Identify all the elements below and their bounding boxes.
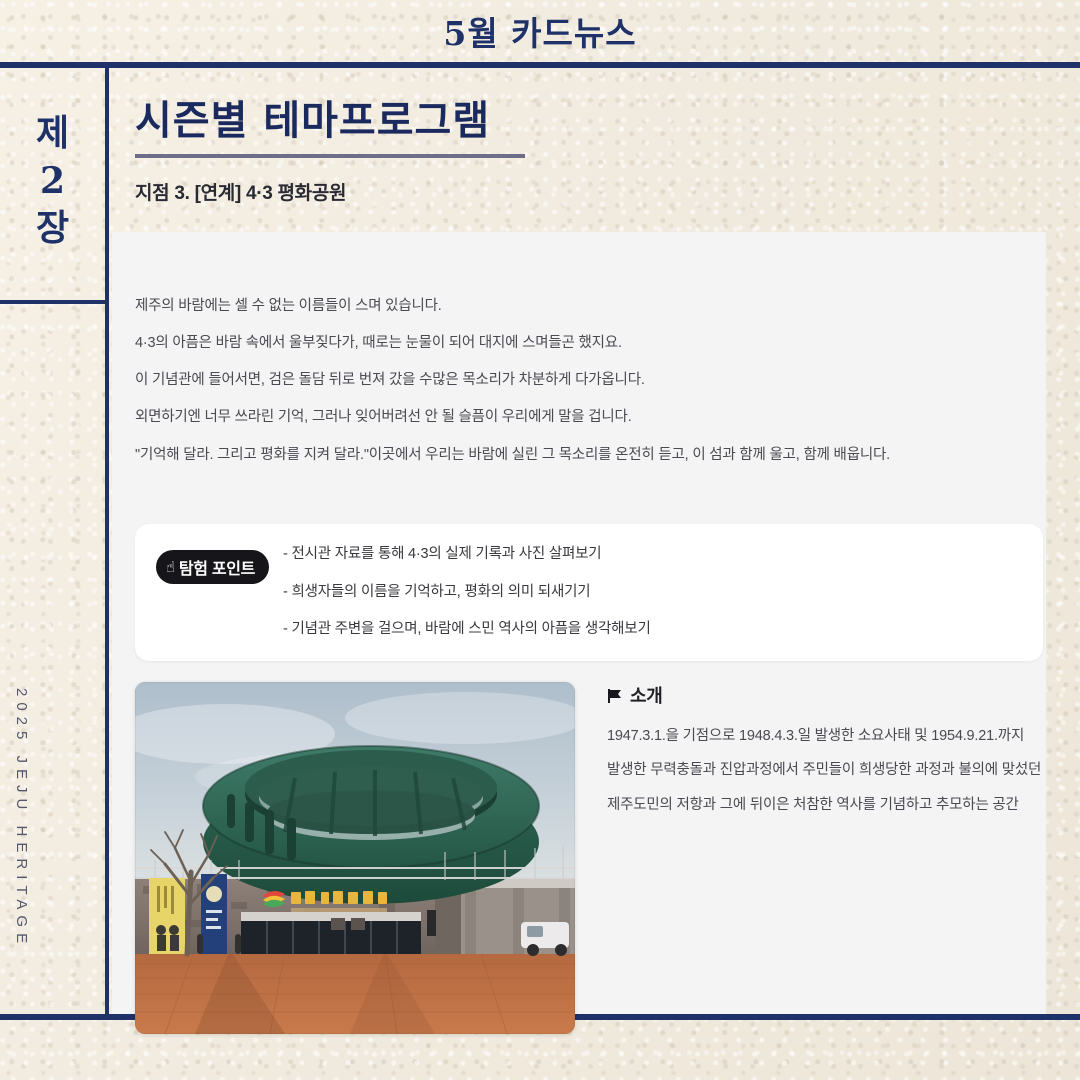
left-rail: 제 2 장 2025 JEJU HERITAGE (0, 68, 105, 1014)
lede-block: 제주의 바람에는 셀 수 없는 이름들이 스며 있습니다. 4·3의 아픔은 바… (112, 232, 1046, 464)
memorial-hall-photo (135, 682, 575, 1034)
card-news-page: 5월 카드뉴스 제 2 장 2025 JEJU HERITAGE 시즌별 테마프… (0, 0, 1080, 1080)
flag-icon (607, 688, 623, 704)
chapter-line-2: 2 (0, 158, 105, 206)
content-column: 시즌별 테마프로그램 지점 3. [연계] 4·3 평화공원 제주의 바람에는 … (112, 68, 1080, 1014)
chapter-line-3: 장 (0, 205, 105, 253)
lede-line: "기억해 달라. 그리고 평화를 지켜 달라."이곳에서 우리는 바람에 실린 … (135, 446, 1026, 464)
page-title: 시즌별 테마프로그램 (135, 99, 1080, 143)
lede-line: 외면하기엔 너무 쓰라린 기억, 그러나 잊어버려선 안 될 슬픔이 우리에게 … (135, 408, 1026, 426)
chapter-line-1: 제 (0, 110, 105, 158)
lede-line: 제주의 바람에는 셀 수 없는 이름들이 스며 있습니다. (135, 297, 1026, 315)
intro-line: 발생한 무력충돌과 진압과정에서 주민들이 희생당한 과정과 불의에 맞섰던 (607, 762, 1037, 779)
page-header: 5월 카드뉴스 (0, 0, 1080, 62)
intro-block: 소개 1947.3.1.을 기점으로 1948.4.3.일 발생한 소요사태 및… (607, 682, 1037, 831)
pointing-hand-icon: ☝ (166, 560, 175, 575)
list-item: - 기념관 주변을 걸으며, 바람에 스민 역사의 아픔을 생각해보기 (283, 621, 651, 638)
list-item: - 희생자들의 이름을 기억하고, 평화의 의미 되새기기 (283, 584, 651, 601)
lede-line: 4·3의 아픔은 바람 속에서 울부짖다가, 때로는 눈물이 되어 대지에 스며… (135, 334, 1026, 352)
chapter-marker: 제 2 장 (0, 110, 105, 253)
rail-brand-label: 2025 JEJU HERITAGE (13, 688, 30, 949)
title-underline (135, 154, 525, 158)
section-subtitle: 지점 3. [연계] 4·3 평화공원 (135, 178, 1080, 205)
intro-line: 1947.3.1.을 기점으로 1948.4.3.일 발생한 소요사태 및 19… (607, 728, 1037, 745)
body-panel: 제주의 바람에는 셀 수 없는 이름들이 스며 있습니다. 4·3의 아픔은 바… (112, 232, 1046, 1014)
intro-heading: 소개 (607, 682, 1037, 708)
explore-point-badge: ☝ 탐험 포인트 (156, 550, 269, 584)
vertical-navy-divider (105, 62, 109, 1019)
intro-line: 제주도민의 저항과 그에 뒤이은 처참한 역사를 기념하고 추모하는 공간 (607, 797, 1037, 814)
header-title: 5월 카드뉴스 (443, 7, 636, 55)
photo-illustration (135, 682, 575, 1034)
lede-line: 이 기념관에 들어서면, 검은 돌담 뒤로 번져 갔을 수많은 목소리가 차분하… (135, 371, 1026, 389)
list-item: - 전시관 자료를 통해 4·3의 실제 기록과 사진 살펴보기 (283, 546, 651, 563)
explore-point-card: ☝ 탐험 포인트 - 전시관 자료를 통해 4·3의 실제 기록과 사진 살펴보… (135, 524, 1043, 661)
explore-point-badge-label: 탐험 포인트 (179, 555, 255, 579)
explore-point-list: - 전시관 자료를 통해 4·3의 실제 기록과 사진 살펴보기 - 희생자들의… (283, 546, 651, 638)
intro-heading-label: 소개 (630, 682, 663, 708)
